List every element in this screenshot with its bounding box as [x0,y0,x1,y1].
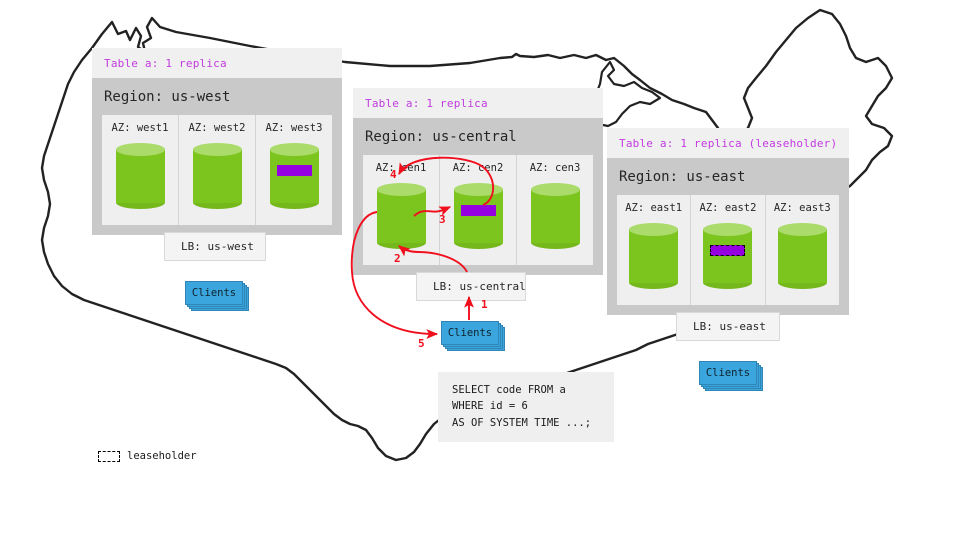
az-cell-west3[interactable]: AZ: west3 [256,115,332,225]
dashed-rect-icon [98,451,120,462]
node-cylinder-cen1[interactable] [377,183,426,249]
node-cylinder-cen3[interactable] [531,183,580,249]
cylinder-body [377,189,426,243]
region-title-us-central: Table a: 1 replica [353,88,603,118]
az-cell-cen2[interactable]: AZ: cen2 [440,155,517,265]
clients-us-east[interactable]: Clients [699,361,757,387]
region-panel-us-west: Table a: 1 replica Region: us-west AZ: w… [92,48,342,235]
clients-label-us-west: Clients [185,281,243,305]
az-label-east1: AZ: east1 [625,202,682,214]
az-cell-west1[interactable]: AZ: west1 [102,115,179,225]
clients-label-us-east: Clients [699,361,757,385]
sql-query-box: SELECT code FROM a WHERE id = 6 AS OF SY… [438,372,614,442]
az-label-east2: AZ: east2 [700,202,757,214]
region-panel-us-central: Table a: 1 replica Region: us-central AZ… [353,88,603,275]
node-cylinder-west3[interactable] [270,143,319,209]
cylinder-body [531,189,580,243]
load-balancer-us-central[interactable]: LB: us-central [416,272,526,301]
az-cell-cen3[interactable]: AZ: cen3 [517,155,593,265]
cylinder-body [193,149,242,203]
load-balancer-us-west[interactable]: LB: us-west [164,232,266,261]
cylinder-top [116,143,165,156]
region-panel-us-east: Table a: 1 replica (leaseholder) Region:… [607,128,849,315]
az-label-east3: AZ: east3 [774,202,831,214]
arrow-number-4: 4 [390,168,397,181]
legend-leaseholder: leaseholder [98,450,197,462]
cylinder-top [270,143,319,156]
node-cylinder-east3[interactable] [778,223,827,289]
load-balancer-us-east[interactable]: LB: us-east [676,312,780,341]
az-cell-west2[interactable]: AZ: west2 [179,115,256,225]
cylinder-top [629,223,678,236]
legend-label: leaseholder [127,450,197,462]
cylinder-body [703,229,752,283]
clients-label-us-central: Clients [441,321,499,345]
cylinder-top [778,223,827,236]
leaseholder-range-east2 [710,245,745,256]
az-label-cen3: AZ: cen3 [530,162,581,174]
diagram-canvas: Table a: 1 replica Region: us-west AZ: w… [0,0,960,540]
az-cell-east3[interactable]: AZ: east3 [766,195,839,305]
clients-us-central[interactable]: Clients [441,321,499,347]
az-label-cen1: AZ: cen1 [376,162,427,174]
az-label-cen2: AZ: cen2 [453,162,504,174]
az-row-us-east: AZ: east1 AZ: east2 [617,195,839,305]
cylinder-top [531,183,580,196]
arrow-number-3: 3 [439,213,446,226]
cylinder-body [116,149,165,203]
az-label-west1: AZ: west1 [112,122,169,134]
region-body-us-west: Region: us-west AZ: west1 AZ: west2 [92,78,342,235]
region-title-us-west: Table a: 1 replica [92,48,342,78]
region-name-us-west: Region: us-west [102,78,332,115]
replica-range-west3 [277,165,312,176]
cylinder-body [270,149,319,203]
region-name-us-east: Region: us-east [617,158,839,195]
az-row-us-west: AZ: west1 AZ: west2 AZ [102,115,332,225]
cylinder-top [377,183,426,196]
az-cell-east1[interactable]: AZ: east1 [617,195,691,305]
arrow-number-5: 5 [418,337,425,350]
clients-us-west[interactable]: Clients [185,281,243,307]
az-label-west2: AZ: west2 [189,122,246,134]
cylinder-top [193,143,242,156]
region-title-us-east: Table a: 1 replica (leaseholder) [607,128,849,158]
az-row-us-central: AZ: cen1 AZ: cen2 [363,155,593,265]
node-cylinder-cen2[interactable] [454,183,503,249]
cylinder-body [454,189,503,243]
region-name-us-central: Region: us-central [363,118,593,155]
node-cylinder-east2[interactable] [703,223,752,289]
az-label-west3: AZ: west3 [266,122,323,134]
az-cell-east2[interactable]: AZ: east2 [691,195,765,305]
region-body-us-central: Region: us-central AZ: cen1 AZ: cen2 [353,118,603,275]
node-cylinder-west1[interactable] [116,143,165,209]
replica-range-cen2 [461,205,496,216]
node-cylinder-west2[interactable] [193,143,242,209]
az-cell-cen1[interactable]: AZ: cen1 [363,155,440,265]
arrow-number-2: 2 [394,252,401,265]
cylinder-body [629,229,678,283]
cylinder-body [778,229,827,283]
cylinder-top [454,183,503,196]
region-body-us-east: Region: us-east AZ: east1 AZ: east2 [607,158,849,315]
arrow-number-1: 1 [481,298,488,311]
node-cylinder-east1[interactable] [629,223,678,289]
